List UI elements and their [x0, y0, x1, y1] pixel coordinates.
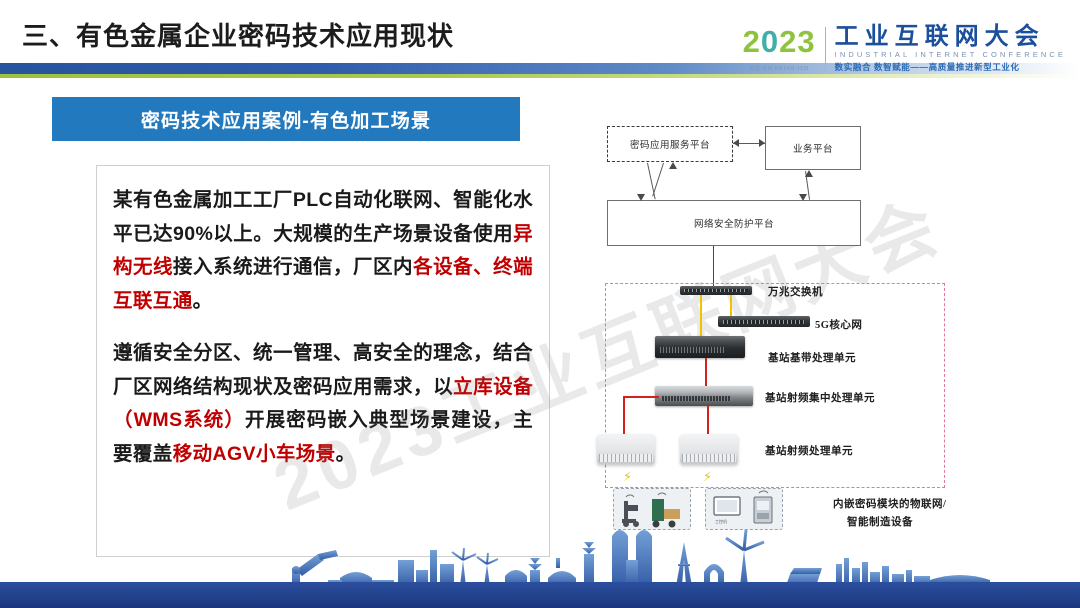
- arrow-left-icon: [733, 139, 739, 147]
- device-label-rru-central: 基站射频集中处理单元: [765, 390, 875, 405]
- rru-right-fins: [682, 454, 735, 462]
- logo-name-block: 工业互联网大会 INDUSTRIAL INTERNET CONFERENCE 数…: [835, 24, 1066, 73]
- device-card-wms: 工控机: [705, 488, 783, 530]
- logo-slogan: 数实融合 数智赋能——高质量推进新型工业化: [835, 61, 1066, 73]
- connector-trunk: [713, 246, 714, 288]
- logo-year-2: 2: [743, 24, 761, 59]
- paragraph-1: 某有色金属加工工厂PLC自动化联网、智能化水平已达90%以上。大规模的生产场景设…: [113, 184, 533, 318]
- rru-left-fins: [599, 454, 652, 462]
- logo-name-cn: 工业互联网大会: [835, 24, 1066, 49]
- cable-red-branch-left-horizontal: [623, 396, 659, 398]
- logo-name-en: INDUSTRIAL INTERNET CONFERENCE: [835, 50, 1066, 59]
- footer-sea-band: [0, 582, 1080, 608]
- logo-year-23: 23: [779, 24, 815, 59]
- arrow-right-icon: [759, 139, 765, 147]
- wms-terminal-icon: 工控机: [706, 489, 783, 530]
- switch-ports: [684, 289, 749, 292]
- device-label-core-switch: 万兆交换机: [768, 284, 823, 299]
- header-divider-green: [0, 74, 1080, 78]
- paragraph-2: 遵循安全分区、统一管理、高安全的理念，结合厂区网络结构现状及密码应用需求，以立库…: [113, 337, 533, 471]
- text-run: 。: [193, 290, 213, 312]
- lightning-bolt-icon: ⚡: [623, 470, 632, 483]
- slide-root: 三、有色金属企业密码技术应用现状 2023 中国·吉林 8月14日-15日 工业…: [0, 0, 1080, 608]
- device-rru-central: [655, 386, 753, 406]
- device-rru-right: [680, 434, 738, 464]
- svg-text:工控机: 工控机: [715, 518, 727, 524]
- section-ribbon-label: 密码技术应用案例-有色加工场景: [141, 106, 431, 133]
- diagram-box-crypto-platform: 密码应用服务平台: [607, 126, 733, 162]
- device-core-switch: [680, 286, 752, 295]
- arrow-up-icon: [805, 170, 813, 177]
- logo-separator: [825, 27, 826, 70]
- device-bbu: [655, 336, 745, 358]
- text-run: 某有色金属加工工厂PLC自动化联网、智能化水平已达90%以上。大规模的生产场景设…: [113, 189, 533, 245]
- logo-date: 中国·吉林 8月14日-15日: [749, 65, 809, 72]
- device-label-iot-line1: 内嵌密码模块的物联网/: [833, 496, 946, 511]
- content-text-panel: 某有色金属加工工厂PLC自动化联网、智能化水平已达90%以上。大规模的生产场景设…: [96, 165, 550, 557]
- lightning-bolt-icon: ⚡: [703, 470, 712, 483]
- logo-year-block: 2023 中国·吉林 8月14日-15日: [743, 24, 825, 72]
- agv-forklift-icon: [614, 489, 691, 530]
- network-architecture-diagram: 密码应用服务平台 业务平台 网络安全防护平台 万兆交换机: [575, 118, 1055, 543]
- rru-central-vents: [661, 396, 732, 402]
- highlighted-text-run: 移动AGV小车场景: [173, 443, 336, 465]
- device-card-agv: [613, 488, 691, 530]
- section-ribbon: 密码技术应用案例-有色加工场景: [52, 97, 520, 141]
- device-label-5g-core: 5G核心网: [815, 317, 862, 332]
- connector-crypto-up: [652, 163, 664, 197]
- 5g-core-ports: [723, 320, 806, 324]
- diagram-box-label: 业务平台: [793, 141, 833, 155]
- device-rru-left: [597, 434, 655, 464]
- text-run: 。: [336, 443, 356, 465]
- cable-red-branch-left-vertical: [623, 396, 625, 436]
- logo-year-0: 0: [761, 24, 779, 59]
- diagram-box-label: 密码应用服务平台: [630, 137, 710, 151]
- device-label-bbu: 基站基带处理单元: [768, 350, 856, 365]
- diagram-box-label: 网络安全防护平台: [694, 216, 774, 230]
- device-label-rru: 基站射频处理单元: [765, 443, 853, 458]
- arrow-down-icon: [799, 194, 807, 201]
- diagram-box-network-security-platform: 网络安全防护平台: [607, 200, 861, 246]
- arrow-up-icon: [669, 162, 677, 169]
- device-5g-core: [718, 316, 810, 327]
- text-run: 接入系统进行通信，厂区内: [173, 256, 413, 278]
- bbu-vents: [660, 347, 725, 353]
- diagram-box-business-platform: 业务平台: [765, 126, 861, 170]
- logo-year: 2023: [743, 24, 816, 57]
- page-title: 三、有色金属企业密码技术应用现状: [22, 16, 454, 53]
- arrow-down-icon: [637, 194, 645, 201]
- device-label-iot-line2: 智能制造设备: [847, 514, 913, 529]
- cable-yellow-left: [700, 295, 702, 338]
- conference-logo: 2023 中国·吉林 8月14日-15日 工业互联网大会 INDUSTRIAL …: [743, 24, 1066, 73]
- connector-crypto-to-security: [647, 163, 656, 199]
- cable-red-branch-right: [707, 406, 709, 436]
